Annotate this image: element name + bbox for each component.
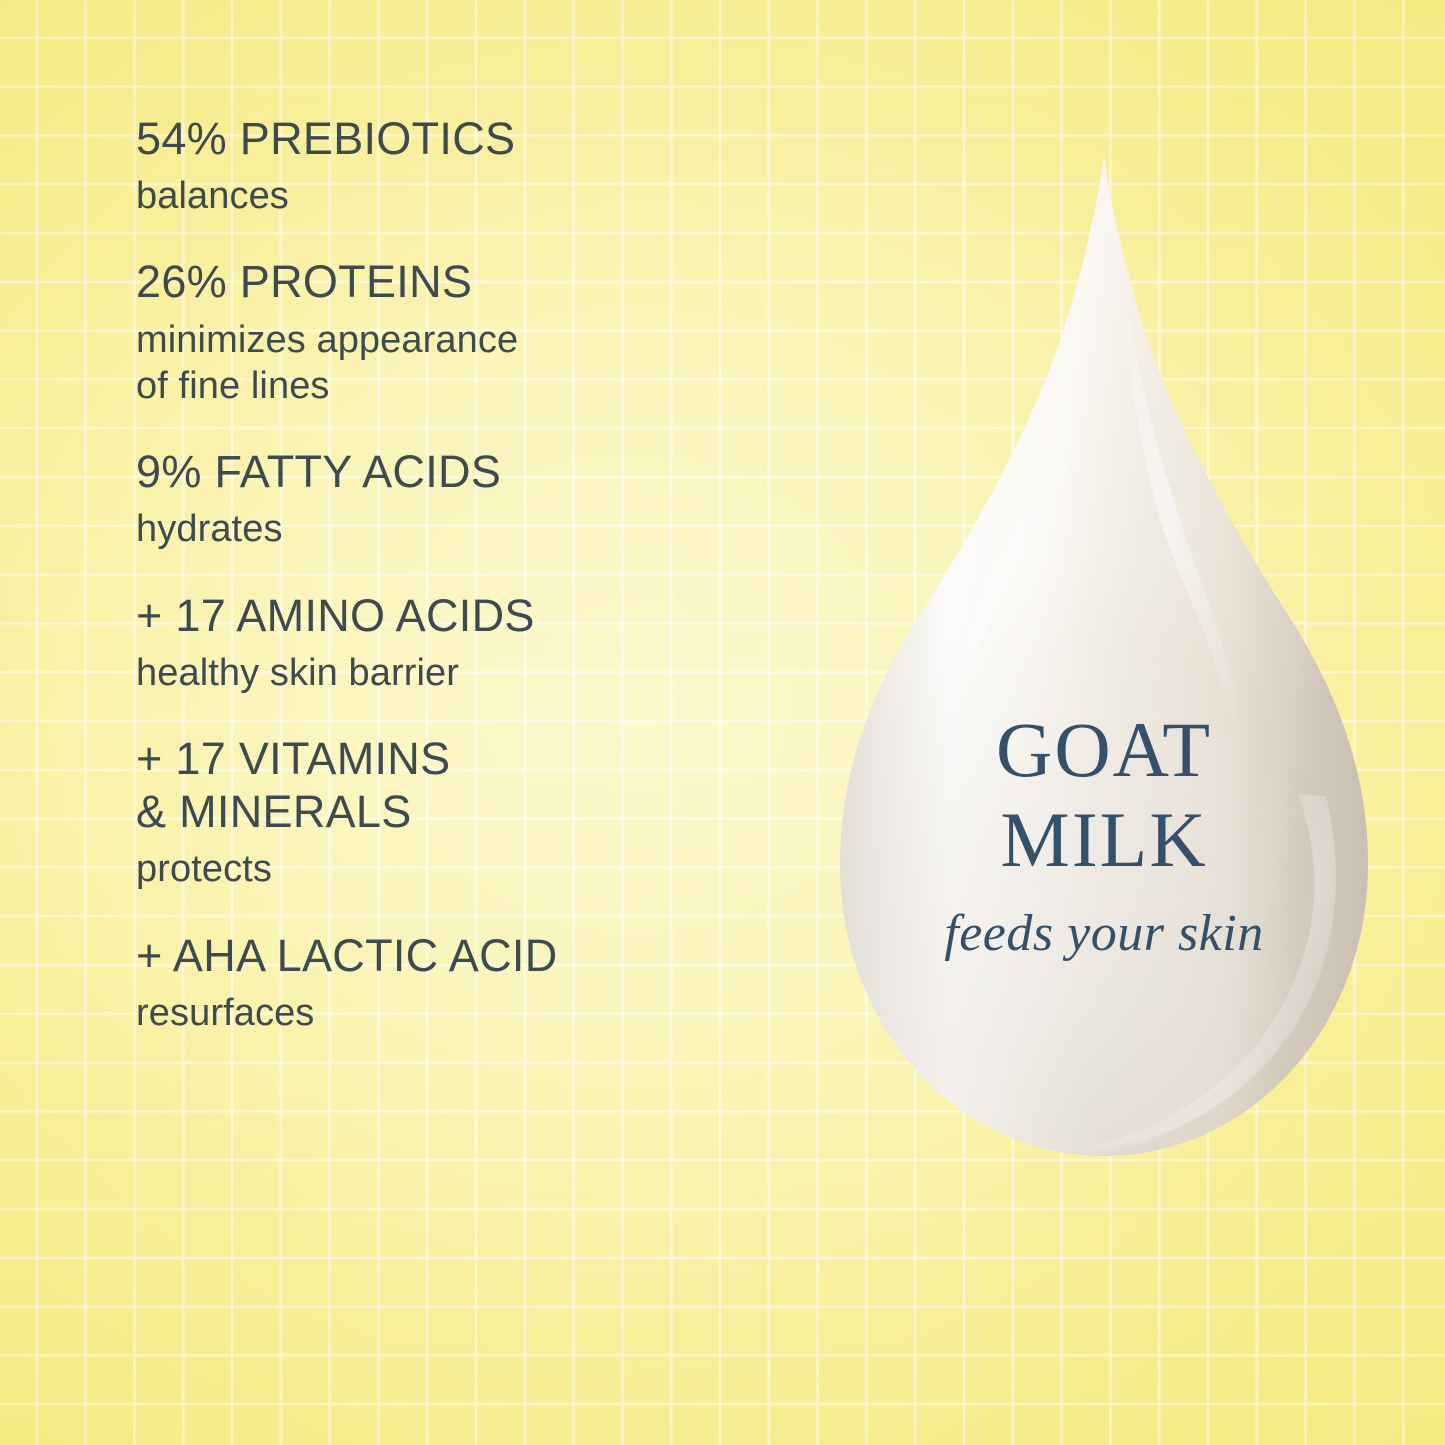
- fact-item-vitamins-minerals: + 17 VITAMINS & MINERALS protects: [136, 732, 796, 893]
- fact-headline: 54% PREBIOTICS: [136, 112, 796, 165]
- fact-headline: 26% PROTEINS: [136, 255, 796, 308]
- fact-benefit: balances: [136, 173, 796, 219]
- fact-headline: + AHA LACTIC ACID: [136, 929, 796, 982]
- ingredient-fact-list: 54% PREBIOTICS balances 26% PROTEINS min…: [136, 112, 796, 1036]
- fact-benefit: minimizes appearance of fine lines: [136, 317, 796, 410]
- fact-benefit: protects: [136, 846, 796, 892]
- fact-item-aha-lactic-acid: + AHA LACTIC ACID resurfaces: [136, 929, 796, 1036]
- fact-item-prebiotics: 54% PREBIOTICS balances: [136, 112, 796, 219]
- fact-item-fatty-acids: 9% FATTY ACIDS hydrates: [136, 445, 796, 552]
- infographic-canvas: 54% PREBIOTICS balances 26% PROTEINS min…: [0, 0, 1445, 1445]
- fact-item-amino-acids: + 17 AMINO ACIDS healthy skin barrier: [136, 589, 796, 696]
- fact-benefit: healthy skin barrier: [136, 650, 796, 696]
- milk-droplet-icon: [828, 148, 1380, 1164]
- fact-item-proteins: 26% PROTEINS minimizes appearance of fin…: [136, 255, 796, 409]
- fact-benefit: hydrates: [136, 506, 796, 552]
- fact-benefit: resurfaces: [136, 990, 796, 1036]
- fact-headline: + 17 VITAMINS & MINERALS: [136, 732, 796, 838]
- fact-headline: + 17 AMINO ACIDS: [136, 589, 796, 642]
- fact-headline: 9% FATTY ACIDS: [136, 445, 796, 498]
